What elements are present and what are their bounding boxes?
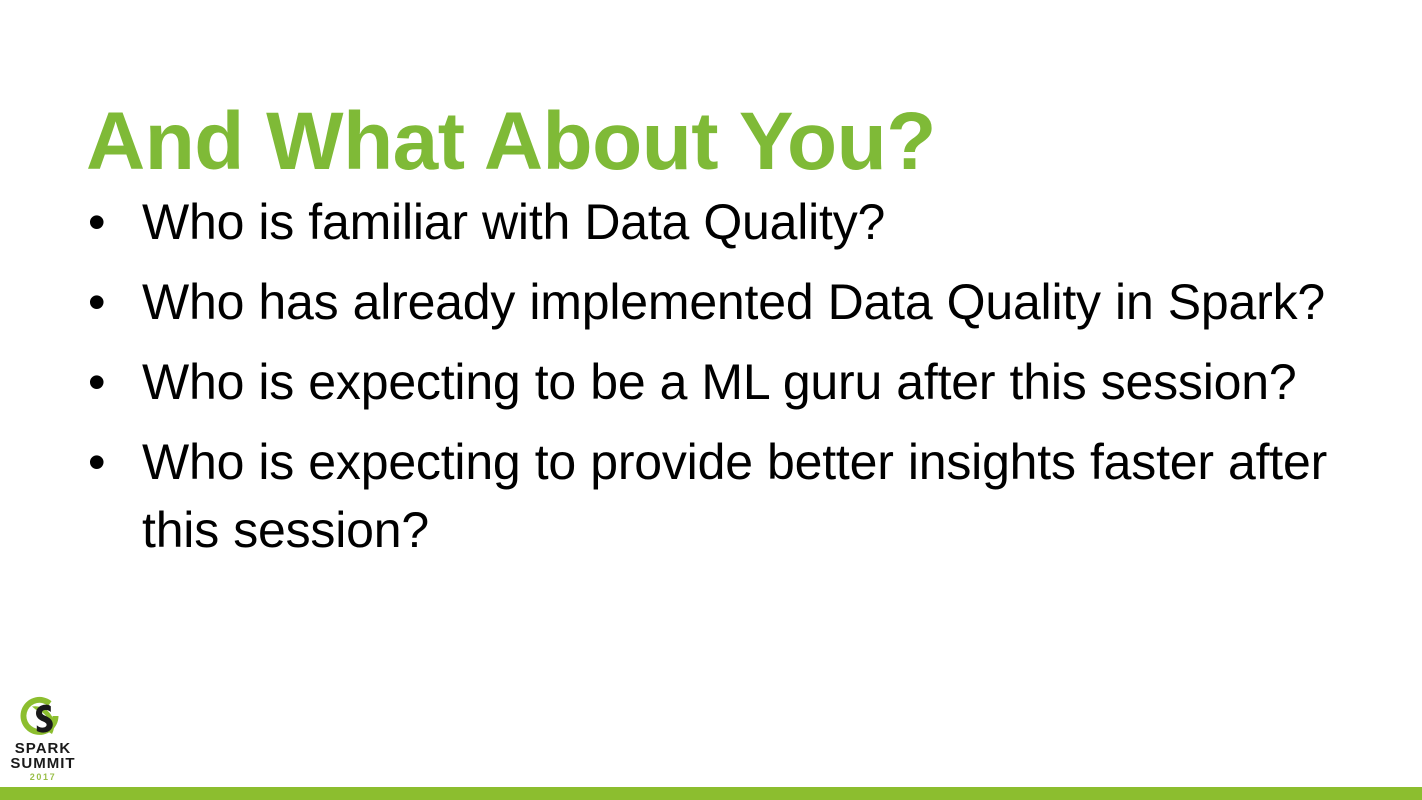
list-item: • Who is expecting to provide better ins… (86, 428, 1356, 564)
logo-line-summit: SUMMIT (10, 756, 76, 771)
footer-accent-band (0, 787, 1422, 800)
list-item-label: Who has already implemented Data Quality… (142, 268, 1356, 336)
bullet-dot-icon: • (86, 348, 142, 416)
list-item-label: Who is expecting to provide better insig… (142, 428, 1356, 564)
bullet-list: • Who is familiar with Data Quality? • W… (86, 188, 1356, 576)
bullet-dot-icon: • (86, 428, 142, 496)
bullet-dot-icon: • (86, 188, 142, 256)
slide: And What About You? • Who is familiar wi… (0, 0, 1422, 800)
logo-line-spark: SPARK (10, 741, 76, 756)
list-item: • Who is familiar with Data Quality? (86, 188, 1356, 256)
list-item-label: Who is familiar with Data Quality? (142, 188, 1356, 256)
list-item: • Who is expecting to be a ML guru after… (86, 348, 1356, 416)
logo-wordmark: SPARK SUMMIT 2017 (10, 741, 76, 783)
bullet-dot-icon: • (86, 268, 142, 336)
logo-year: 2017 (10, 771, 76, 783)
spark-swirl-icon (18, 694, 66, 742)
page-title: And What About You? (86, 101, 1346, 183)
spark-summit-logo: SPARK SUMMIT 2017 (10, 694, 76, 784)
list-item-label: Who is expecting to be a ML guru after t… (142, 348, 1356, 416)
list-item: • Who has already implemented Data Quali… (86, 268, 1356, 336)
